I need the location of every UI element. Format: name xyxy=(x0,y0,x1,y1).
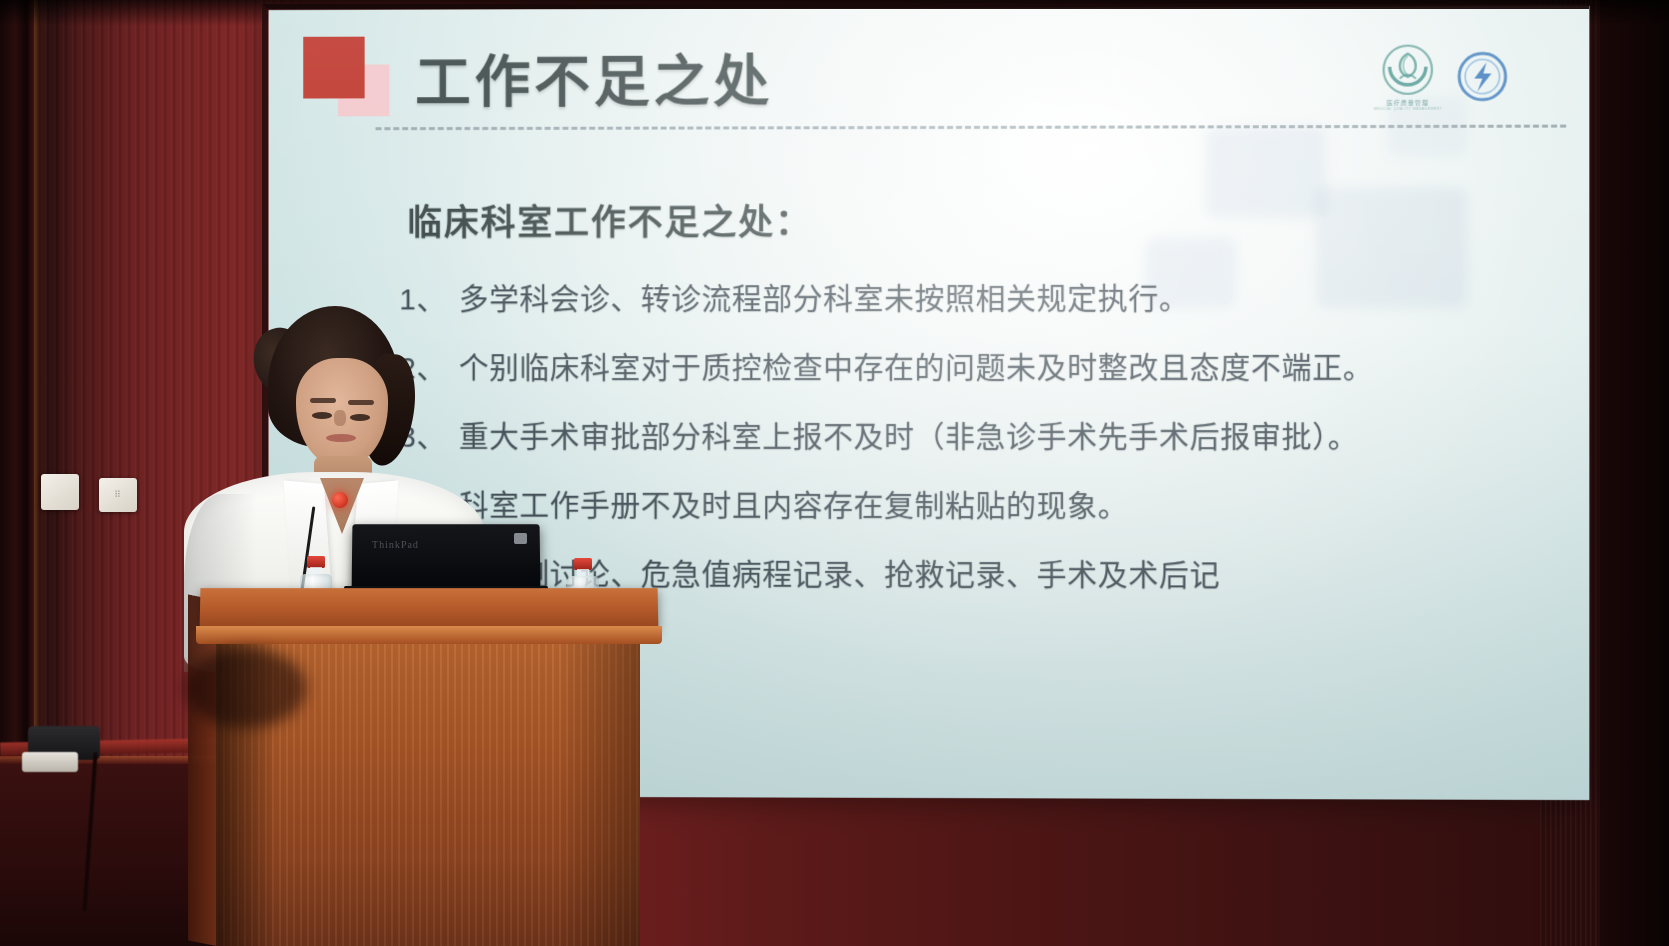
floor-equipment-white xyxy=(22,752,78,772)
projector-ghost-1 xyxy=(1206,127,1327,217)
bullet-text: 个别临床科室对于质控检查中存在的问题未及时整改且态度不端正。 xyxy=(459,349,1530,388)
bullet-item-2: 2、 个别临床科室对于质控检查中存在的问题未及时整改且态度不端正。 xyxy=(399,349,1529,388)
bullet-text: 重大手术审批部分科室上报不及时（非急诊手术先手术后报审批）。 xyxy=(459,418,1530,457)
laptop-brand-mark: ThinkPad xyxy=(372,540,419,551)
podium-shadow-right xyxy=(560,644,640,946)
microphone-indicator-light-icon xyxy=(332,492,348,508)
logo-group: 医疗质量管理 MEDICAL QUALITY MANAGEMENT xyxy=(1374,42,1509,111)
hospital-logo-subcaption: MEDICAL QUALITY MANAGEMENT xyxy=(1374,107,1442,111)
presenter-eye-left xyxy=(312,412,332,419)
foreground-blur-blob xyxy=(186,648,306,728)
presenter-brow-left xyxy=(310,398,336,403)
bullet-item-4: 4、 科室工作手册不及时且内容存在复制粘贴的现象。 xyxy=(399,487,1529,527)
laptop-screen-back xyxy=(352,524,541,590)
title-decor-square-red xyxy=(303,37,364,99)
slide-title: 工作不足之处 xyxy=(415,36,773,118)
wall-switch-plate-blank[interactable] xyxy=(41,474,79,510)
presenter-brow-right xyxy=(348,400,374,405)
presenter-mouth xyxy=(326,434,356,442)
laptop-logo-badge-icon xyxy=(514,533,527,544)
podium-desktop xyxy=(200,588,659,630)
hospital-leaf-logo: 医疗质量管理 MEDICAL QUALITY MANAGEMENT xyxy=(1374,43,1442,111)
socket-holes-icon: ⠿ xyxy=(114,491,122,500)
bullet-text: 科室工作手册不及时且内容存在复制粘贴的现象。 xyxy=(459,487,1530,527)
blue-circle-runner-logo xyxy=(1456,50,1508,102)
slide-body-heading: 临床科室工作不足之处： xyxy=(407,194,812,245)
podium-front-lip xyxy=(196,626,662,644)
leaf-circle-icon xyxy=(1381,43,1435,97)
runner-circle-icon xyxy=(1456,50,1508,102)
bullet-text: 多学科会诊、转诊流程部分科室未按照相关规定执行。 xyxy=(459,279,1530,319)
bullet-item-3: 3、 重大手术审批部分科室上报不及时（非急诊手术先手术后报审批）。 xyxy=(399,418,1529,457)
presenter-nose xyxy=(334,410,346,426)
wall-socket-plate[interactable]: ⠿ xyxy=(99,478,137,512)
right-wall-shadow xyxy=(1600,0,1669,946)
bullet-item-1: 1、 多学科会诊、转诊流程部分科室未按照相关规定执行。 xyxy=(399,279,1529,319)
presenter-eye-right xyxy=(350,414,370,421)
hospital-logo-caption: 医疗质量管理 xyxy=(1387,98,1429,107)
screenshot-stage: ⠿ 工作不足之处 医疗质量管理 xyxy=(0,0,1669,946)
